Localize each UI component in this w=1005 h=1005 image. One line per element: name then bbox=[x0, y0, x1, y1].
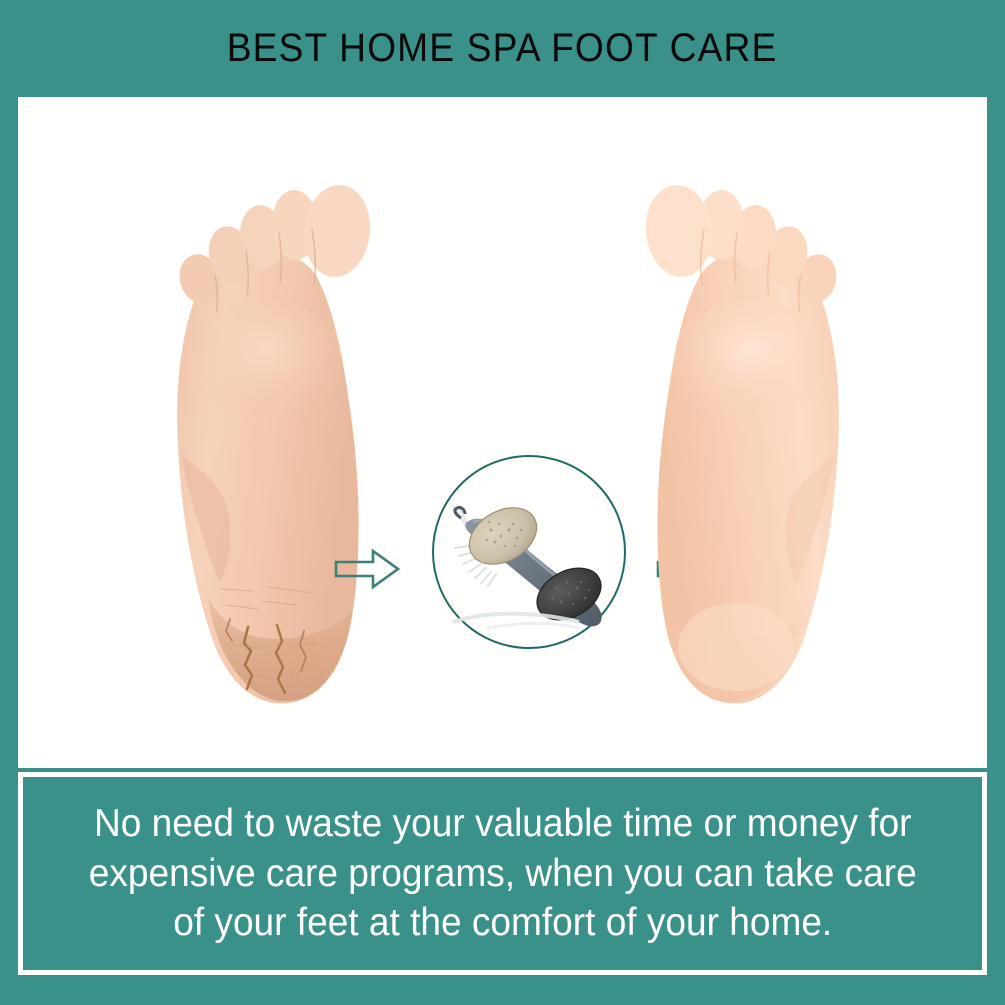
caption-line-2: expensive care programs, when you can ta… bbox=[89, 849, 917, 899]
page-title: BEST HOME SPA FOOT CARE bbox=[227, 26, 778, 71]
before-foot-image bbox=[138, 127, 388, 727]
after-foot-image bbox=[628, 127, 878, 727]
caption-line-3: of your feet at the comfort of your home… bbox=[89, 898, 917, 948]
poster-header: BEST HOME SPA FOOT CARE bbox=[0, 0, 1005, 97]
product-poster: BEST HOME SPA FOOT CARE bbox=[0, 0, 1005, 1005]
caption-box: No need to waste your valuable time or m… bbox=[18, 772, 987, 975]
caption-text: No need to waste your valuable time or m… bbox=[75, 799, 929, 949]
arrow-right-icon-before bbox=[333, 547, 401, 591]
product-image bbox=[429, 452, 629, 652]
caption-line-1: No need to waste your valuable time or m… bbox=[89, 799, 917, 849]
comparison-panel: BEFORE AFTER bbox=[18, 97, 987, 768]
